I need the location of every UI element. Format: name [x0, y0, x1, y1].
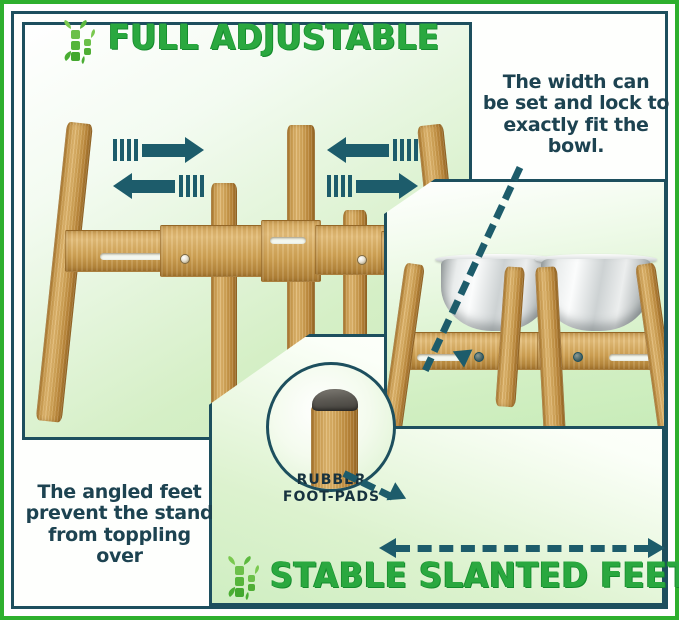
arrow-dashes [327, 175, 352, 197]
bamboo-stalk-icon-bottom [226, 556, 262, 600]
note-width-line-1: The width can [476, 72, 676, 93]
note-feet-line-2: prevent the stand [22, 503, 217, 524]
headline-full-adjustable: FULL ADJUSTABLE [108, 18, 440, 58]
arrow-bottom-left-outward [113, 173, 204, 199]
note-angled-feet: The angled feet prevent the stand from t… [22, 482, 217, 568]
note-width-adjust: The width can be set and lock to exactly… [476, 72, 676, 158]
arrow-top-right-inward [327, 137, 418, 163]
note-width-line-3: exactly fit the bowl. [476, 115, 676, 158]
arrow-shaft [132, 180, 175, 193]
rail-left-inner [160, 225, 270, 277]
rail-slot-center [270, 237, 306, 244]
lock-knob-right[interactable] [357, 255, 367, 265]
bamboo-stalk-icon-top [62, 20, 98, 64]
span-arrow-head-left [379, 538, 396, 558]
arrow-head [185, 137, 204, 163]
arrow-shaft [356, 180, 399, 193]
infographic-root: RUBBER FOOT-PADS FULL ADJUSTABLE [0, 0, 679, 620]
arrow-shaft [346, 144, 389, 157]
rubber-label-line-1: RUBBER [254, 472, 409, 489]
arrow-head [327, 137, 346, 163]
bamboo-svg [62, 20, 98, 64]
note-width-line-2: be set and lock to [476, 93, 676, 114]
span-arrow-head-right [648, 538, 665, 558]
rail-center-bracket [261, 220, 321, 282]
rubber-foot-pads-label: RUBBER FOOT-PADS [254, 472, 409, 506]
stand-leg-left [36, 122, 93, 423]
arrow-dashes [113, 139, 138, 161]
note-feet-line-3: from toppling [22, 525, 217, 546]
bowl-lock-knob-right[interactable] [573, 352, 583, 362]
bowl-lock-knob-left[interactable] [474, 352, 484, 362]
arrow-head [113, 173, 132, 199]
panel-bowl-stand [384, 179, 667, 429]
note-feet-line-4: over [22, 546, 217, 567]
arrow-top-left-outward [113, 137, 204, 163]
rubber-foot-pad [312, 389, 358, 411]
span-arrow-line [396, 545, 648, 552]
headline-stable-slanted-feet: STABLE SLANTED FEET [270, 556, 679, 596]
bamboo-svg [226, 556, 262, 600]
arrow-dashes [179, 175, 204, 197]
arrow-bottom-right-outward [327, 173, 418, 199]
note-feet-line-1: The angled feet [22, 482, 217, 503]
lock-knob-left[interactable] [180, 254, 190, 264]
arrow-dashes [393, 139, 418, 161]
arrow-shaft [142, 144, 185, 157]
